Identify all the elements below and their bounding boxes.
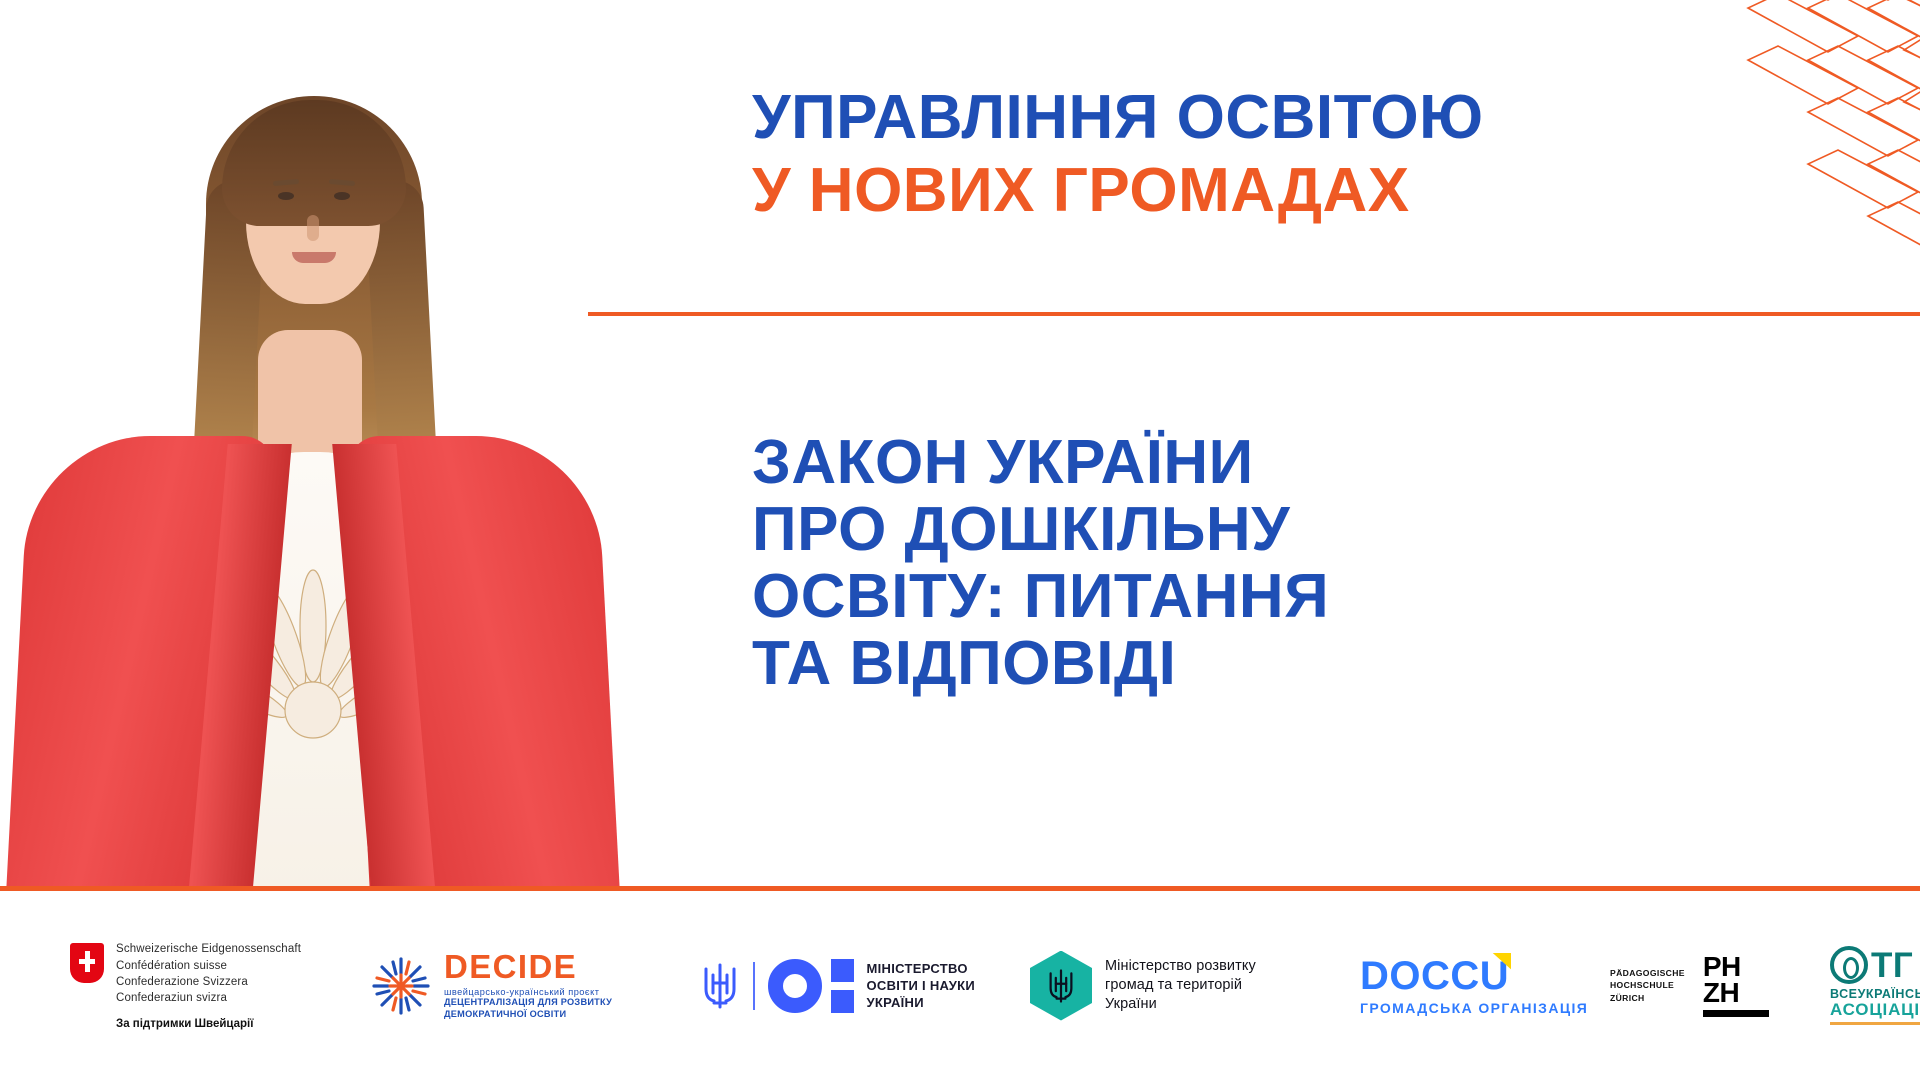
swiss-support-note: За підтримки Швейцарії xyxy=(116,1018,301,1030)
headline-line-4: ТА ВІДПОВІДІ xyxy=(752,631,1812,698)
phzh-line-3: ZÜRICH xyxy=(1610,992,1685,1004)
decide-subtitle-1: швейцарсько-український проєкт xyxy=(444,987,612,997)
minreg-line-2: громад та територій xyxy=(1105,976,1256,995)
logo-divider xyxy=(753,962,755,1010)
doccu-wordmark: DOCCU xyxy=(1360,954,1509,998)
phzh-mark-line-2: ZH xyxy=(1703,980,1769,1006)
swiss-line-4: Confederaziun svizra xyxy=(116,990,301,1006)
logo-phzh: PÄDAGOGISCHE HOCHSCHULE ZÜRICH PH ZH xyxy=(1610,954,1830,1018)
logo-ministry-of-communities-development: Міністерство розвитку громад та територі… xyxy=(1030,951,1360,1021)
decide-wordmark: DECIDE xyxy=(444,950,612,983)
phzh-line-2: HOCHSCHULE xyxy=(1610,979,1685,991)
otg-subtitle-1: ВСЕУКРАЇНСЬКА xyxy=(1830,987,1920,1001)
nose xyxy=(307,215,319,241)
decide-subtitle-2: ДЕЦЕНТРАЛІЗАЦІЯ ДЛЯ РОЗВИТКУ xyxy=(444,997,612,1009)
slide-canvas: УПРАВЛІННЯ ОСВІТОЮ У НОВИХ ГРОМАДАХ ЗАКО… xyxy=(0,0,1920,1080)
swiss-line-3: Confederazione Svizzera xyxy=(116,974,301,990)
page-title: ЗАКОН УКРАЇНИ ПРО ДОШКІЛЬНУ ОСВІТУ: ПИТА… xyxy=(752,430,1812,698)
headline-line-3: ОСВІТУ: ПИТАННЯ xyxy=(752,564,1812,631)
doccu-subtitle: ГРОМАДСЬКА ОРГАНІЗАЦІЯ xyxy=(1360,1000,1588,1016)
minreg-line-1: Міністерство розвитку xyxy=(1105,957,1256,976)
series-title-line-1: УПРАВЛІННЯ ОСВІТОЮ xyxy=(752,88,1852,149)
partner-logos-bar: Schweizerische Eidgenossenschaft Confédé… xyxy=(0,891,1920,1080)
swiss-line-1: Schweizerische Eidgenossenschaft xyxy=(116,941,301,957)
eye-left xyxy=(278,192,294,200)
minreg-line-3: України xyxy=(1105,995,1256,1014)
headline-line-1: ЗАКОН УКРАЇНИ xyxy=(752,430,1812,497)
divider-top xyxy=(588,312,1920,316)
otg-subtitle-2: АСОЦІАЦІЯ xyxy=(1830,1001,1920,1019)
swiss-shield-icon xyxy=(70,943,104,983)
phzh-line-1: PÄDAGOGISCHE xyxy=(1610,967,1685,979)
otg-ring-icon xyxy=(1830,946,1868,984)
logo-decide: DECIDE швейцарсько-український проєкт ДЕ… xyxy=(370,950,700,1021)
otg-underline xyxy=(1830,1022,1920,1025)
mouth xyxy=(292,252,336,263)
ukraine-trident-icon xyxy=(700,959,740,1013)
mon-line-2: ОСВІТИ І НАУКИ xyxy=(867,977,975,994)
speaker-photo xyxy=(0,0,620,888)
decide-subtitle-3: ДЕМОКРАТИЧНОЇ ОСВІТИ xyxy=(444,1009,612,1021)
phzh-mark-line-1: PH xyxy=(1703,954,1769,980)
mon-line-1: МІНІСТЕРСТВО xyxy=(867,960,975,977)
logo-ministry-of-education: МІНІСТЕРСТВО ОСВІТИ І НАУКИ УКРАЇНИ xyxy=(700,959,1030,1013)
logo-otg-association: ТГ ВСЕУКРАЇНСЬКА АСОЦІАЦІЯ xyxy=(1830,946,1920,1024)
mon-circle-icon xyxy=(768,959,822,1013)
series-title-line-2: У НОВИХ ГРОМАДАХ xyxy=(752,161,1852,222)
mon-squares-icon xyxy=(831,959,854,1013)
doccu-wordmark-wrap: DOCCU xyxy=(1360,956,1509,996)
teal-hexagon-trident-icon xyxy=(1030,951,1092,1021)
series-title: УПРАВЛІННЯ ОСВІТОЮ У НОВИХ ГРОМАДАХ xyxy=(752,88,1852,222)
mon-line-3: УКРАЇНИ xyxy=(867,994,975,1011)
logo-swiss-confederation: Schweizerische Eidgenossenschaft Confédé… xyxy=(70,941,370,1029)
logo-doccu: DOCCU ГРОМАДСЬКА ОРГАНІЗАЦІЯ xyxy=(1360,956,1610,1016)
decide-snowflake-icon xyxy=(370,955,432,1017)
eye-right xyxy=(334,192,350,200)
phzh-underline xyxy=(1703,1010,1769,1017)
otg-wordmark: ТГ xyxy=(1871,948,1913,983)
swiss-line-2: Confédération suisse xyxy=(116,958,301,974)
headline-line-2: ПРО ДОШКІЛЬНУ xyxy=(752,497,1812,564)
